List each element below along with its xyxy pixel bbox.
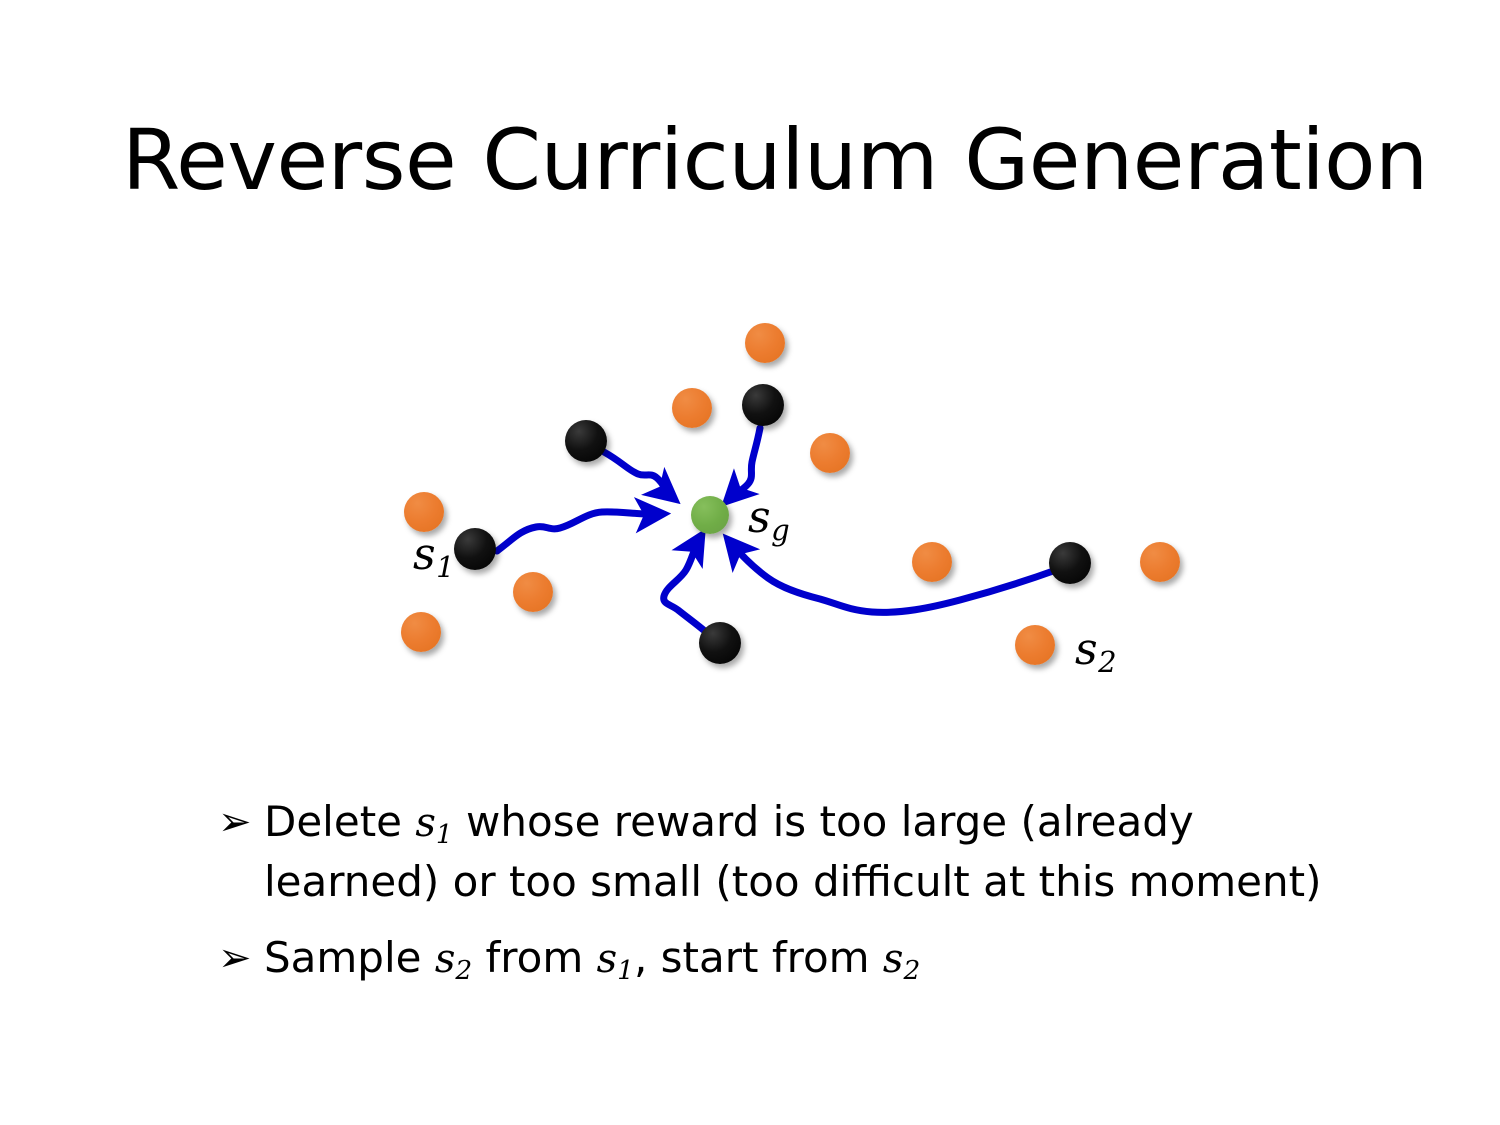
bullet-item-1: ➢Delete s1 whose reward is too large (al… bbox=[218, 795, 1328, 909]
state-node-o3 bbox=[810, 433, 850, 473]
label-s1-sub: 1 bbox=[436, 550, 454, 584]
math-variable: s1 bbox=[415, 800, 452, 846]
label-sg-sub: g bbox=[771, 513, 790, 547]
math-variable: s2 bbox=[883, 936, 920, 982]
label-s2: s2 bbox=[1075, 628, 1116, 676]
label-s1: s1 bbox=[413, 533, 454, 581]
state-node-o2 bbox=[672, 388, 712, 428]
label-s2-sub: 2 bbox=[1098, 645, 1116, 679]
trajectory-from-s2 bbox=[730, 542, 1056, 612]
state-node-o1 bbox=[745, 323, 785, 363]
bullet-marker-icon: ➢ bbox=[218, 795, 264, 849]
state-node-sg bbox=[691, 496, 729, 534]
bullet-text-1: Delete s1 whose reward is too large (alr… bbox=[264, 795, 1328, 909]
trajectory-from-b1 bbox=[729, 428, 760, 499]
trajectory-from-b2 bbox=[604, 452, 672, 497]
state-node-b5 bbox=[699, 622, 741, 664]
state-node-o6 bbox=[401, 612, 441, 652]
label-sg: sg bbox=[748, 496, 789, 544]
state-node-b4 bbox=[1049, 542, 1091, 584]
state-node-b1 bbox=[742, 384, 784, 426]
bullet-marker-icon: ➢ bbox=[218, 931, 264, 985]
state-node-o4 bbox=[404, 492, 444, 532]
bullet-text-2: Sample s2 from s1, start from s2 bbox=[264, 931, 1328, 991]
state-node-b3 bbox=[454, 528, 496, 570]
state-node-o9 bbox=[1015, 625, 1055, 665]
trajectory-arrows-layer bbox=[0, 0, 1500, 760]
label-s2-var: s bbox=[1075, 624, 1098, 675]
label-s1-var: s bbox=[413, 529, 436, 580]
math-variable: s2 bbox=[435, 936, 472, 982]
reverse-curriculum-diagram: s1 sg s2 bbox=[0, 0, 1500, 760]
state-node-o7 bbox=[912, 542, 952, 582]
state-node-b2 bbox=[565, 420, 607, 462]
state-node-o5 bbox=[513, 572, 553, 612]
math-variable: s1 bbox=[597, 936, 634, 982]
bullet-list: ➢Delete s1 whose reward is too large (al… bbox=[218, 795, 1328, 1013]
trajectory-from-s1 bbox=[497, 512, 660, 551]
bullet-item-2: ➢Sample s2 from s1, start from s2 bbox=[218, 931, 1328, 991]
trajectory-from-b5 bbox=[664, 538, 712, 637]
state-node-o8 bbox=[1140, 542, 1180, 582]
label-sg-var: s bbox=[748, 492, 771, 543]
